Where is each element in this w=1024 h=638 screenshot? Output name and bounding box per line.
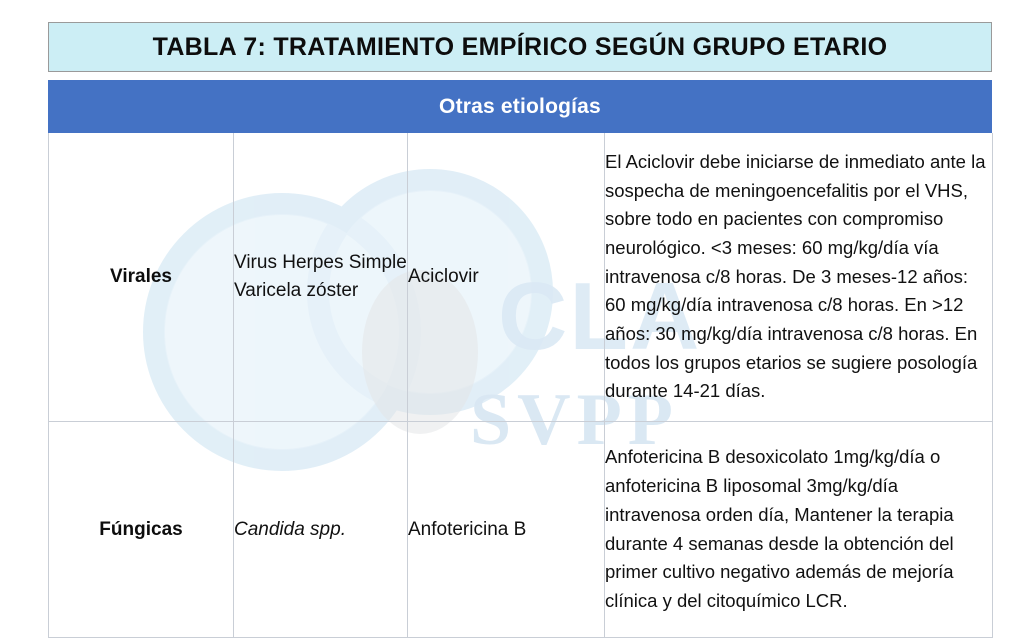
table-row: Virales Virus Herpes Simple Varicela zós… [49, 133, 993, 422]
cell-dosing-detail: El Aciclovir debe iniciarse de inmediato… [605, 133, 993, 422]
section-header-bar: Otras etiologías [48, 80, 992, 133]
etiologies-table: Virales Virus Herpes Simple Varicela zós… [48, 133, 993, 638]
table-title-bar: TABLA 7: TRATAMIENTO EMPÍRICO SEGÚN GRUP… [48, 22, 992, 72]
cell-dosing-detail: Anfotericina B desoxicolato 1mg/kg/día o… [605, 422, 993, 638]
cell-group-name: Fúngicas [49, 422, 234, 638]
cell-group-name: Virales [49, 133, 234, 422]
cell-agent-name: Virus Herpes Simple Varicela zóster [234, 133, 408, 422]
cell-drug-name: Anfotericina B [408, 422, 605, 638]
table-row: Fúngicas Candida spp. Anfotericina B Anf… [49, 422, 993, 638]
section-header-label: Otras etiologías [439, 95, 601, 119]
page-title: TABLA 7: TRATAMIENTO EMPÍRICO SEGÚN GRUP… [153, 35, 888, 60]
cell-agent-name: Candida spp. [234, 422, 408, 638]
cell-drug-name: Aciclovir [408, 133, 605, 422]
etiologies-table-container: Virales Virus Herpes Simple Varicela zós… [48, 133, 992, 638]
